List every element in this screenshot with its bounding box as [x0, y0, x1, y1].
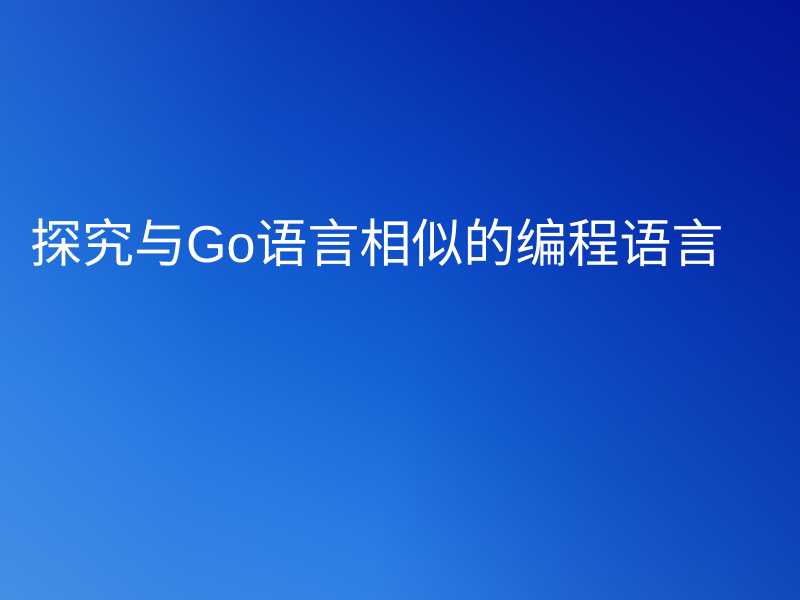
- slide-title: 探究与Go语言相似的编程语言: [30, 206, 782, 284]
- slide-background-gradient-overlay: [0, 0, 800, 600]
- title-block: 探究与Go语言相似的编程语言: [30, 206, 782, 284]
- title-slide: 探究与Go语言相似的编程语言: [0, 0, 800, 600]
